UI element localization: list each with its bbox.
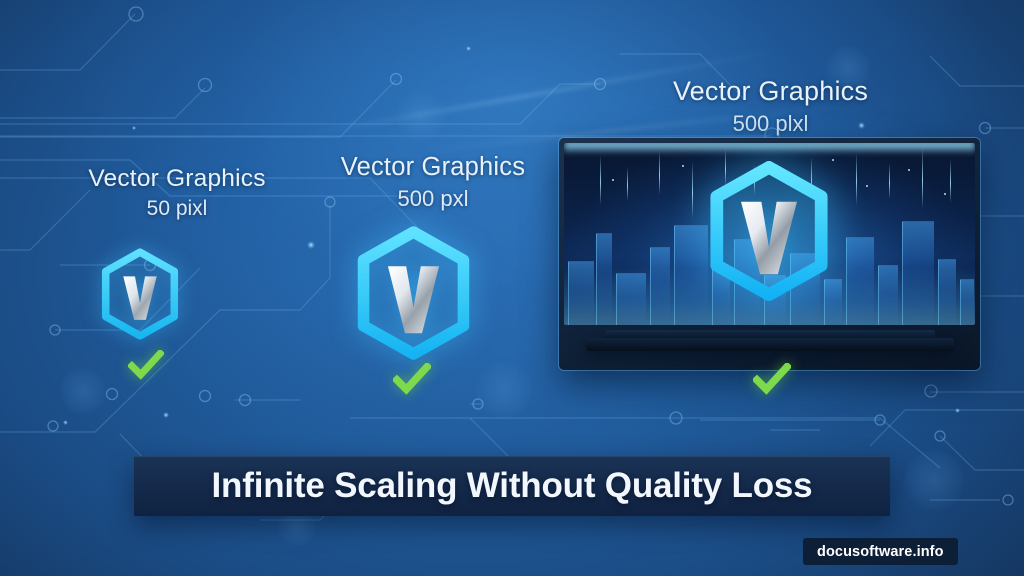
hexagon-v-logo-icon [352,226,475,360]
green-checkmark-icon [128,350,164,380]
label-small-title: Vector Graphics [57,165,297,193]
watermark-badge[interactable]: docusoftware.info [803,538,958,565]
hexagon-v-logo-icon [705,161,833,301]
label-small-value: 50 pixl [57,197,297,221]
label-large-size: Vector Graphics 500 plxl [648,76,893,137]
label-large-title: Vector Graphics [648,76,893,107]
monitor-base [586,338,954,351]
green-checkmark-icon [753,363,791,395]
label-medium-value: 500 pxl [313,186,553,212]
headline-banner: Infinite Scaling Without Quality Loss [134,456,890,516]
monitor-icon [559,138,980,370]
watermark-text: docusoftware.info [817,544,944,560]
label-medium-size: Vector Graphics 500 pxl [313,153,553,212]
monitor-screen [564,143,975,325]
headline-text: Infinite Scaling Without Quality Loss [212,466,813,506]
green-checkmark-icon [393,363,431,395]
label-medium-title: Vector Graphics [313,153,553,182]
label-small-size: Vector Graphics 50 pixl [57,165,297,221]
label-large-value: 500 plxl [648,111,893,137]
slide-canvas: Vector Graphics 50 pixl Vector Graphics … [0,0,1024,576]
hexagon-v-logo-icon [98,248,182,340]
